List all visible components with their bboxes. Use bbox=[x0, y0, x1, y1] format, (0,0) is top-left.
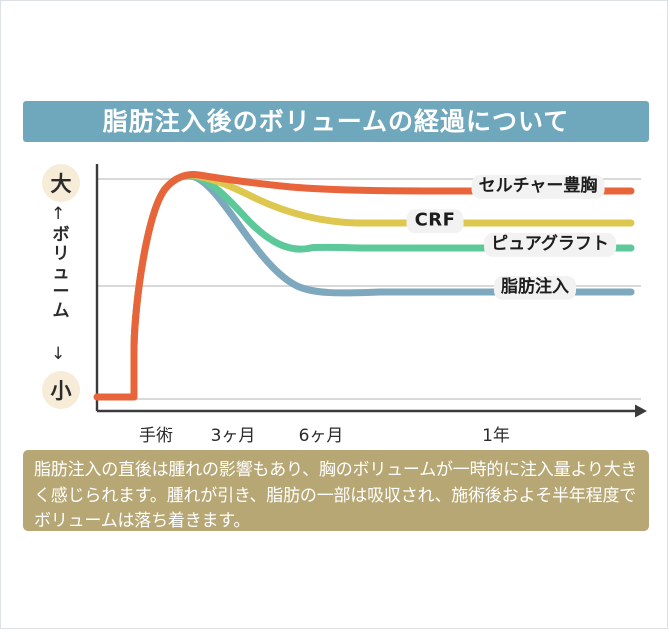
y-axis-label-char-5: ム bbox=[48, 302, 74, 321]
y-axis-label: ボ リ ュ ー ム bbox=[48, 226, 74, 321]
y-axis-high-badge: 大 bbox=[42, 164, 80, 202]
volume-progression-chart bbox=[1, 1, 670, 632]
x-tick-label-surgery: 手術 bbox=[139, 421, 173, 446]
y-axis-annotation: 大 ↑ ボ リ ュ ー ム ↓ 小 bbox=[39, 164, 85, 409]
y-axis-down-arrow-icon: ↓ bbox=[51, 344, 65, 364]
x-tick-label-3-months: 3ヶ月 bbox=[211, 421, 256, 446]
infographic-card: 脂肪注入後のボリュームの経過について 大 ↑ ボ リ ュ bbox=[0, 0, 668, 629]
series-label-fat-injection: 脂肪注入 bbox=[494, 276, 576, 300]
title-banner: 脂肪注入後のボリュームの経過について bbox=[23, 101, 649, 142]
series-label-crf: CRF bbox=[407, 209, 464, 233]
y-axis-label-char-3: ュ bbox=[48, 264, 74, 283]
x-tick-label-1-year: 1年 bbox=[482, 421, 510, 446]
series-label-pure-graft: ピュアグラフト bbox=[484, 233, 616, 257]
y-axis-label-char-1: ボ bbox=[48, 226, 74, 245]
caption-text: 脂肪注入の直後は腫れの影響もあり、胸のボリュームが一時的に注入量より大きく感じら… bbox=[34, 458, 638, 535]
caption-box: 脂肪注入の直後は腫れの影響もあり、胸のボリュームが一時的に注入量より大きく感じら… bbox=[23, 450, 649, 531]
series-label-cellture: セルチャー豊胸 bbox=[472, 175, 605, 199]
y-axis-low-badge: 小 bbox=[42, 371, 80, 409]
y-axis-label-char-4: ー bbox=[48, 283, 74, 302]
y-axis-up-arrow-icon: ↑ bbox=[51, 204, 65, 224]
y-axis-label-char-2: リ bbox=[48, 245, 74, 264]
x-tick-label-6-months: 6ヶ月 bbox=[299, 421, 344, 446]
page-title: 脂肪注入後のボリュームの経過について bbox=[103, 109, 570, 134]
